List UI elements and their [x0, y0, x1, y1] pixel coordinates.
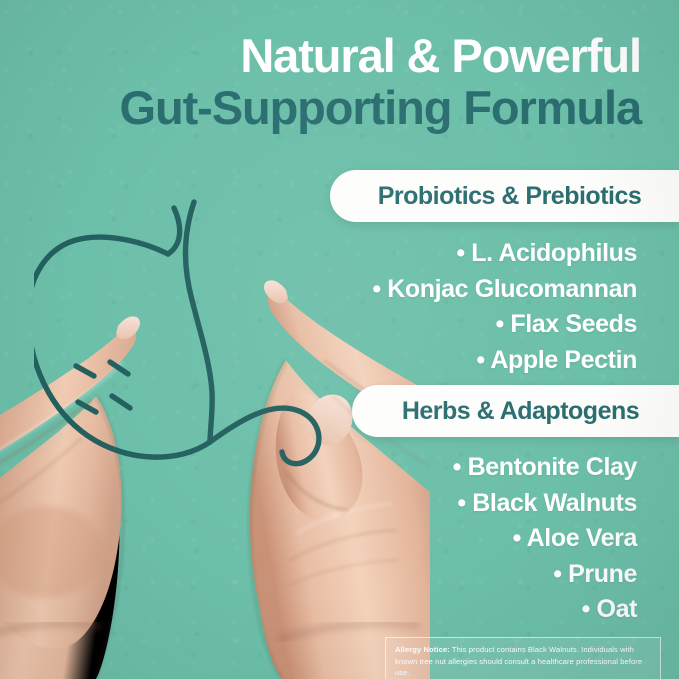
list-item: • Aloe Vera	[453, 521, 637, 557]
list-item: • Konjac Glucomannan	[372, 272, 637, 308]
allergy-notice-label: Allergy Notice:	[395, 645, 450, 654]
banner-herbs-label: Herbs & Adaptogens	[378, 397, 653, 426]
banner-probiotics-prebiotics: Probiotics & Prebiotics	[330, 170, 679, 222]
left-hand	[0, 316, 140, 679]
page-title: Natural & Powerful Gut-Supporting Formul…	[30, 32, 641, 133]
ingredient-list-probiotics: • L. Acidophilus • Konjac Glucomannan • …	[372, 236, 637, 378]
headline-line-1: Natural & Powerful	[30, 32, 641, 81]
list-item: • Prune	[453, 557, 637, 593]
list-item: • L. Acidophilus	[372, 236, 637, 272]
banner-probiotics-label: Probiotics & Prebiotics	[354, 182, 656, 211]
list-item: • Flax Seeds	[372, 307, 637, 343]
banner-herbs-adaptogens: Herbs & Adaptogens	[352, 385, 679, 437]
stomach-line-drawing	[34, 196, 334, 486]
headline-line-2: Gut-Supporting Formula	[30, 84, 641, 133]
list-item: • Bentonite Clay	[453, 450, 637, 486]
infographic-canvas: Natural & Powerful Gut-Supporting Formul…	[0, 0, 679, 679]
allergy-notice-box: Allergy Notice: This product contains Bl…	[385, 637, 661, 679]
ingredient-list-herbs: • Bentonite Clay • Black Walnuts • Aloe …	[453, 450, 637, 628]
list-item: • Oat	[453, 592, 637, 628]
list-item: • Apple Pectin	[372, 343, 637, 379]
list-item: • Black Walnuts	[453, 486, 637, 522]
allergy-notice-text: Allergy Notice: This product contains Bl…	[395, 644, 651, 679]
